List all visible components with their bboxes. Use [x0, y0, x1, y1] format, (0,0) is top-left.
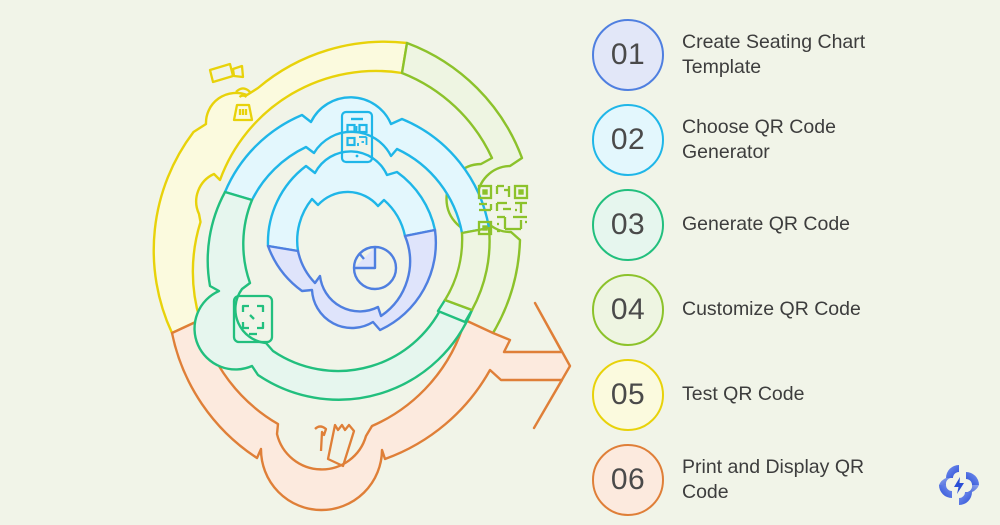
step-label: Generate QR Code	[682, 212, 850, 237]
step-badge-02[interactable]: 02	[592, 104, 664, 176]
step-badge-03[interactable]: 03	[592, 189, 664, 261]
qr-code-icon	[479, 186, 527, 234]
step-number: 02	[611, 123, 645, 157]
step-badge-05[interactable]: 05	[592, 359, 664, 431]
step-badge-01[interactable]: 01	[592, 19, 664, 91]
list-item[interactable]: 04 Customize QR Code	[592, 267, 992, 352]
list-item[interactable]: 01 Create Seating Chart Template	[592, 12, 992, 97]
infographic-page: 01 Create Seating Chart Template 02 Choo…	[0, 0, 1000, 525]
step-label: Print and Display QR Code	[682, 455, 897, 505]
step-label: Test QR Code	[682, 382, 804, 407]
step-number: 01	[611, 38, 645, 72]
list-item[interactable]: 05 Test QR Code	[592, 352, 992, 437]
step-label: Choose QR Code Generator	[682, 115, 897, 165]
list-item[interactable]: 02 Choose QR Code Generator	[592, 97, 992, 182]
logo-pinwheel-icon	[939, 465, 979, 505]
step-badge-04[interactable]: 04	[592, 274, 664, 346]
brand-logo[interactable]	[936, 462, 982, 508]
step-label: Create Seating Chart Template	[682, 30, 897, 80]
step-number: 03	[611, 208, 645, 242]
step-number: 04	[611, 293, 645, 327]
step-label: Customize QR Code	[682, 297, 861, 322]
list-item[interactable]: 06 Print and Display QR Code	[592, 437, 992, 522]
step-badge-06[interactable]: 06	[592, 444, 664, 516]
cycle-diagram	[110, 0, 580, 525]
step-number: 06	[611, 463, 645, 497]
steps-legend: 01 Create Seating Chart Template 02 Choo…	[592, 12, 992, 522]
list-item[interactable]: 03 Generate QR Code	[592, 182, 992, 267]
step-number: 05	[611, 378, 645, 412]
pie-chart-icon	[354, 247, 396, 289]
